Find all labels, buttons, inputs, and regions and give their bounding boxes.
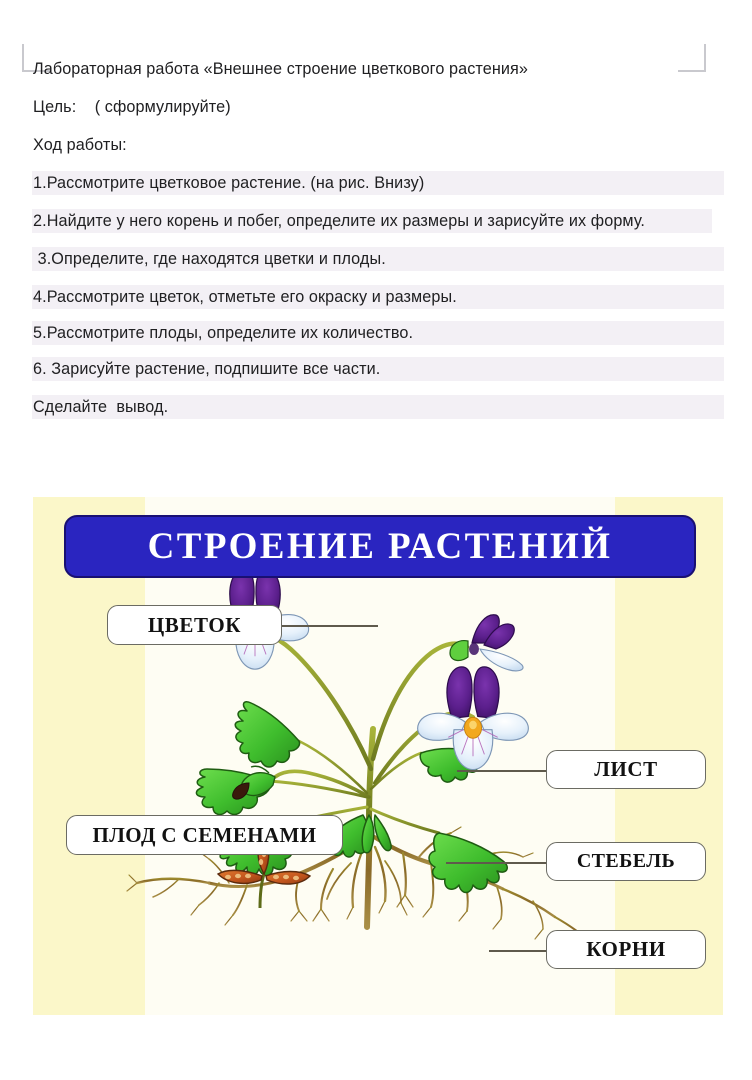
doc-line-step-4: 4.Рассмотрите цветок, отметьте его окрас… — [33, 286, 723, 308]
leader-line-leaf — [457, 770, 547, 772]
flower-side-view — [450, 615, 523, 671]
doc-line-conclusion: Сделайте вывод. — [33, 396, 723, 418]
plant-structure-figure: СТРОЕНИЕ РАСТЕНИЙ ЦВЕТОК ЛИСТ ПЛОД С СЕМ… — [33, 497, 723, 1015]
doc-line-step-1: 1.Рассмотрите цветковое растение. (на ри… — [33, 172, 723, 194]
doc-line-step-2: 2.Найдите у него корень и побег, определ… — [33, 210, 711, 232]
label-flower-text: ЦВЕТОК — [148, 613, 241, 638]
doc-line-goal: Цель: ( сформулируйте) — [33, 96, 723, 118]
figure-title-banner: СТРОЕНИЕ РАСТЕНИЙ — [64, 515, 696, 578]
label-flower: ЦВЕТОК — [107, 605, 282, 645]
document-text-block: Лабораторная работа «Внешнее строение цв… — [33, 58, 723, 434]
label-leaf: ЛИСТ — [546, 750, 706, 789]
doc-line-step-3: 3.Определите, где находятся цветки и пло… — [33, 248, 723, 270]
doc-line-step-5: 5.Рассмотрите плоды, определите их колич… — [33, 322, 723, 344]
label-fruit: ПЛОД С СЕМЕНАМИ — [66, 815, 343, 855]
label-leaf-text: ЛИСТ — [594, 757, 658, 782]
leader-line-flower — [282, 625, 378, 627]
leader-line-stem — [446, 862, 547, 864]
label-stem-text: СТЕБЕЛЬ — [577, 850, 675, 873]
leader-line-root — [489, 950, 547, 952]
doc-line-step-6: 6. Зарисуйте растение, подпишите все час… — [33, 358, 723, 380]
label-stem: СТЕБЕЛЬ — [546, 842, 706, 881]
label-fruit-text: ПЛОД С СЕМЕНАМИ — [92, 823, 316, 848]
label-root: КОРНИ — [546, 930, 706, 969]
label-root-text: КОРНИ — [586, 937, 666, 962]
figure-title-text: СТРОЕНИЕ РАСТЕНИЙ — [148, 525, 613, 568]
doc-line-title: Лабораторная работа «Внешнее строение цв… — [33, 58, 723, 80]
doc-line-procedure: Ход работы: — [33, 134, 723, 156]
